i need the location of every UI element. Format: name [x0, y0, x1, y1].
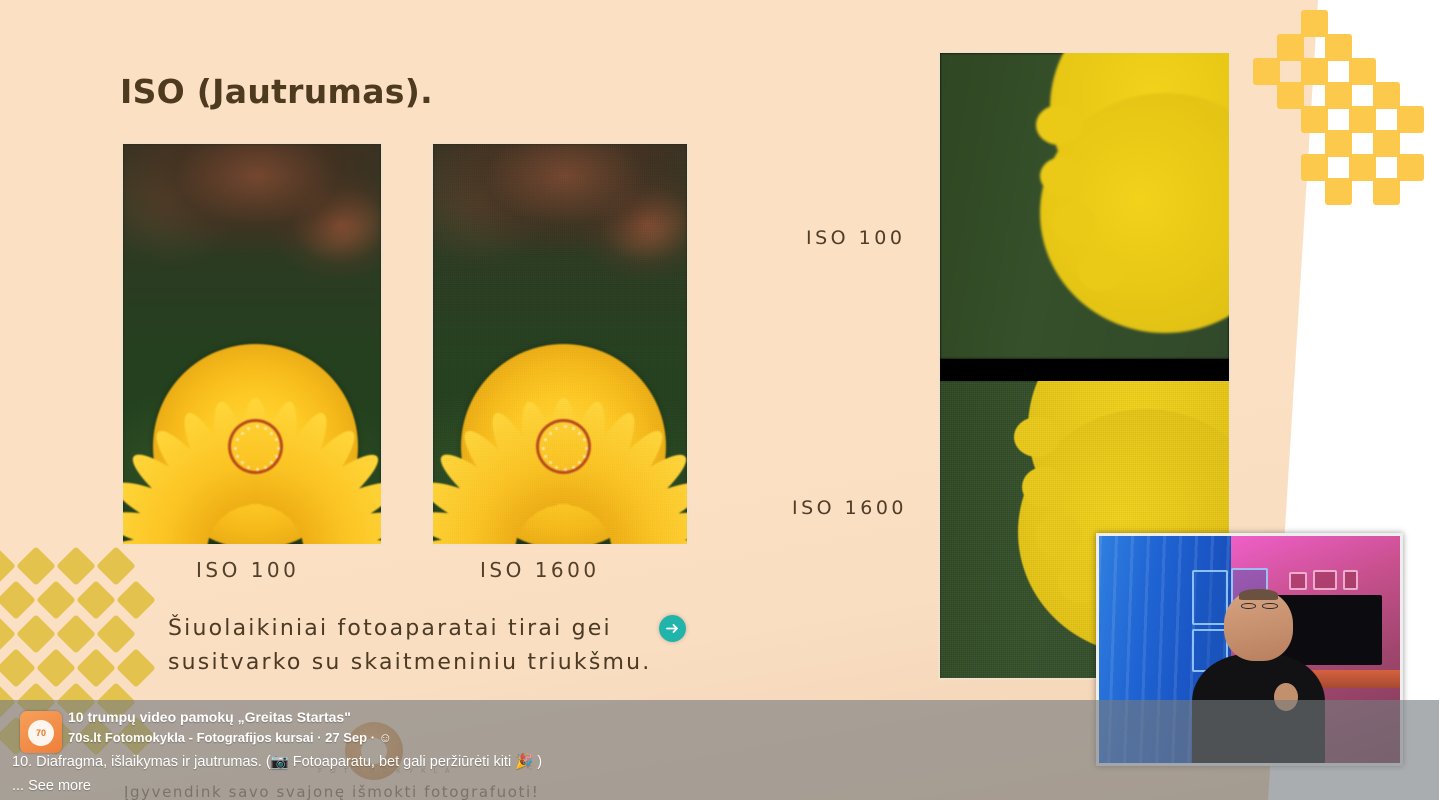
crop-label-iso-100: ISO 100: [806, 227, 905, 249]
photo-iso-1600: [431, 142, 689, 546]
caption-iso-1600: ISO 1600: [480, 558, 600, 582]
decorative-checker-pattern: [1253, 10, 1439, 195]
decorative-square: [1301, 154, 1328, 181]
photo-noise: [433, 144, 687, 544]
post-description: 10. Diafragma, išlaikymas ir jautrumas. …: [12, 753, 542, 770]
decorative-diamond: [116, 648, 156, 688]
flower-core-dot: [256, 468, 259, 471]
decorative-square: [1325, 178, 1352, 205]
decorative-square: [1397, 154, 1424, 181]
screen: ISO (Jautrumas). ISO 100 ISO 1600 Šiuola…: [0, 0, 1439, 800]
webcam-wall-frame: [1289, 572, 1307, 590]
post-title[interactable]: 10 trumpų video pamokų „Greitas Startas": [68, 709, 351, 725]
cursor-arrow-icon[interactable]: [659, 615, 686, 642]
crop-petal-bump: [1052, 203, 1096, 243]
decorative-diamond: [0, 580, 36, 620]
decorative-square: [1349, 154, 1376, 181]
flower-graphic: [153, 344, 358, 546]
decorative-diamond: [0, 546, 16, 586]
crop-petal-bump: [1078, 249, 1124, 291]
flower-core-dot: [247, 427, 250, 430]
decorative-diamond: [56, 546, 96, 586]
flower-core-dot: [264, 466, 267, 469]
caption-iso-100: ISO 100: [196, 558, 299, 582]
flower-core-dot: [241, 432, 244, 435]
body-line-1-tail: i: [604, 616, 612, 641]
decorative-square: [1253, 58, 1280, 85]
flower-core-dot: [270, 432, 273, 435]
decorative-diamond: [0, 614, 16, 654]
crop-petal-bump: [1036, 105, 1082, 145]
page-avatar[interactable]: 70: [20, 711, 62, 753]
decorative-square: [1301, 58, 1328, 85]
decorative-square: [1325, 34, 1352, 61]
webcam-person-head: [1224, 590, 1293, 661]
post-meta[interactable]: 70s.lt Fotomokykla - Fotografijos kursai…: [68, 730, 392, 745]
crop-petal-bump: [1040, 157, 1084, 195]
body-line-1: Šiuolaikiniai fotoaparatai tirai ge: [168, 616, 604, 641]
decorative-square: [1325, 82, 1352, 109]
decorative-diamond: [96, 546, 136, 586]
flower-core-dot: [234, 447, 237, 450]
decorative-diamond: [116, 580, 156, 620]
flower-core-dots: [228, 419, 283, 474]
see-more-link[interactable]: ... See more: [12, 778, 91, 794]
flower-petal: [305, 538, 383, 546]
crop-iso-100: [940, 53, 1229, 359]
slide-title: ISO (Jautrumas).: [120, 72, 433, 111]
crop-divider: [940, 359, 1229, 381]
glasses-lens-left: [1241, 603, 1257, 609]
decorative-square: [1373, 130, 1400, 157]
flower-core-dot: [236, 438, 239, 441]
webcam-wall-frame: [1313, 570, 1337, 590]
decorative-diamond: [76, 580, 116, 620]
flower-core-dot: [256, 425, 259, 428]
avatar-badge: 70: [28, 720, 54, 746]
decorative-square: [1277, 82, 1304, 109]
decorative-diamond: [0, 648, 36, 688]
decorative-square: [1349, 58, 1376, 85]
flower-core-dot: [241, 461, 244, 464]
decorative-square: [1301, 10, 1328, 37]
decorative-square: [1349, 106, 1376, 133]
flower-core-dot: [275, 455, 278, 458]
webcam-person-glasses: [1241, 603, 1278, 609]
webcam-wall-frame: [1343, 570, 1358, 590]
decorative-square: [1373, 178, 1400, 205]
decorative-square: [1277, 34, 1304, 61]
decorative-diamond: [96, 614, 136, 654]
decorative-square: [1301, 106, 1328, 133]
flower-core: [228, 419, 283, 474]
decorative-square: [1397, 106, 1424, 133]
flower-core-dot: [270, 461, 273, 464]
glasses-lens-right: [1262, 603, 1278, 609]
webcam-person-hair: [1239, 589, 1278, 600]
decorative-diamond: [36, 648, 76, 688]
flower-core-dot: [275, 438, 278, 441]
body-line-2: susitvarko su skaitmeniniu triukšmu.: [168, 650, 652, 675]
decorative-diamond: [36, 580, 76, 620]
decorative-diamond: [16, 614, 56, 654]
decorative-diamond: [56, 614, 96, 654]
decorative-diamond: [76, 648, 116, 688]
crop-label-iso-1600: ISO 1600: [792, 497, 907, 519]
flower-core-dot: [236, 455, 239, 458]
decorative-diamond: [16, 546, 56, 586]
crop-image-smooth: [940, 53, 1229, 359]
flower-core-dot: [247, 466, 250, 469]
photo-iso-100: [121, 142, 383, 546]
flower-core-dot: [277, 447, 280, 450]
decorative-square: [1373, 82, 1400, 109]
decorative-square: [1325, 130, 1352, 157]
flower-core-dot: [264, 427, 267, 430]
